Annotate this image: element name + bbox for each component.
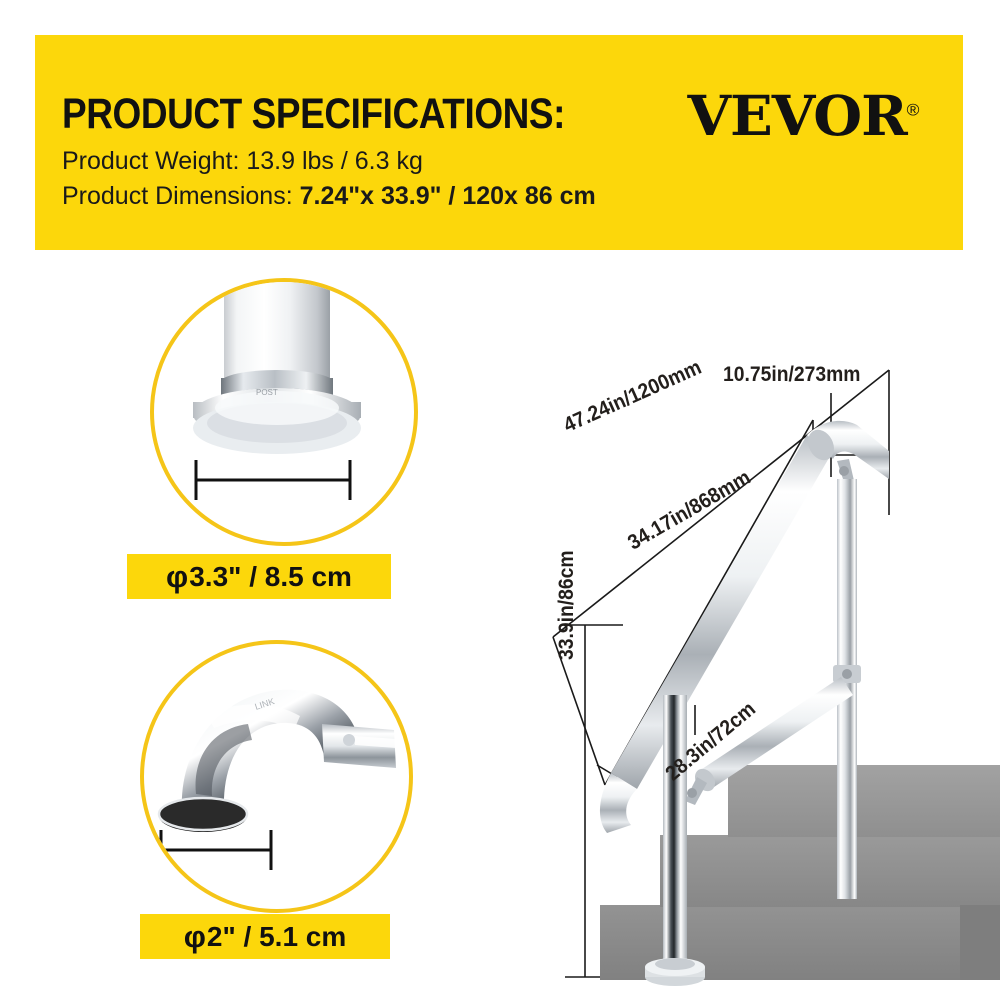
vevor-wordmark: VEVOR bbox=[687, 83, 906, 148]
registered-trademark-icon: ® bbox=[906, 101, 919, 120]
product-spec-page: PRODUCT SPECIFICATIONS: Product Weight: … bbox=[0, 0, 1000, 1000]
product-dimensions-line: Product Dimensions: 7.24"x 33.9" / 120x … bbox=[62, 182, 596, 211]
phi-symbol-icon: φ bbox=[166, 559, 188, 595]
dimension-label-top-horizontal: 10.75in/273mm bbox=[723, 363, 860, 387]
handrail-dimension-drawing: 47.24in/1200mm 10.75in/273mm 34.17in/868… bbox=[545, 265, 1000, 1000]
product-weight-line: Product Weight: 13.9 lbs / 6.3 kg bbox=[62, 147, 423, 176]
callout-label-text-2: 2" / 5.1 cm bbox=[207, 921, 346, 953]
product-weight-label: Product Weight: bbox=[62, 147, 239, 175]
spec-header-banner: PRODUCT SPECIFICATIONS: Product Weight: … bbox=[35, 35, 963, 250]
handrail-base-flange-icon: POST bbox=[154, 282, 414, 542]
stairs bbox=[600, 765, 1000, 980]
dimension-label-post-height: 33.9in/86cm bbox=[555, 550, 579, 660]
callout-label-text-1: 3.3" / 8.5 cm bbox=[189, 561, 352, 593]
phi-symbol-icon: φ bbox=[184, 919, 206, 955]
callout-circle-base-flange: POST bbox=[150, 278, 418, 546]
callout-label-tube-diameter: φ2" / 5.1 cm bbox=[140, 914, 390, 959]
vevor-logo: VEVOR® bbox=[687, 83, 919, 148]
product-dimensions-value: 7.24"x 33.9" / 120x 86 cm bbox=[300, 182, 596, 210]
handrail-pipe-elbow-icon: LINK bbox=[144, 644, 409, 909]
callout-label-base-diameter: φ3.3" / 8.5 cm bbox=[127, 554, 391, 599]
callout-circle-pipe-end: LINK bbox=[140, 640, 413, 913]
product-weight-value: 13.9 lbs / 6.3 kg bbox=[246, 147, 423, 175]
product-dimensions-label: Product Dimensions: bbox=[62, 182, 293, 210]
page-title: PRODUCT SPECIFICATIONS: bbox=[62, 90, 565, 139]
svg-text:POST: POST bbox=[256, 388, 278, 397]
